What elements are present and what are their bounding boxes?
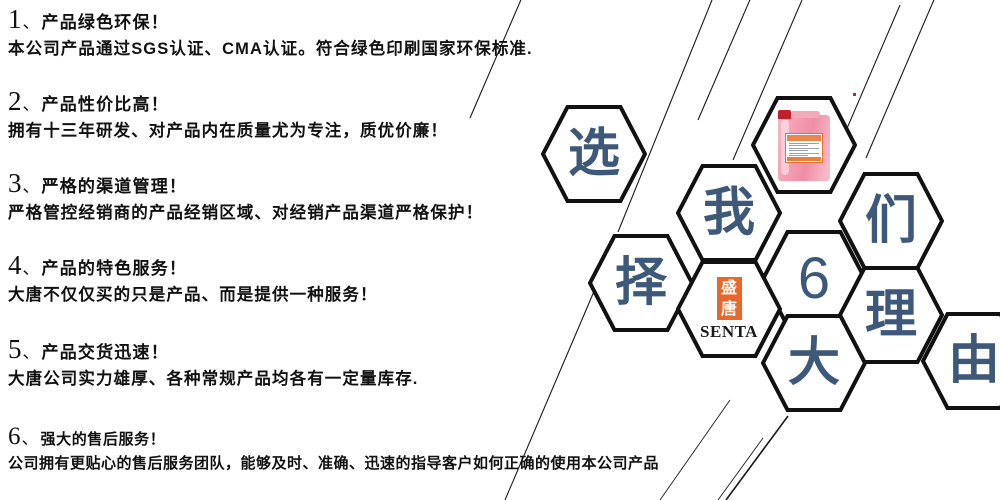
jerrycan-cap: [778, 110, 791, 119]
reason-item-6: 6、强大的售后服务！ 公司拥有更贴心的售后服务团队，能够及时、准确、迅速的指导客…: [8, 424, 708, 473]
reason-body: 大唐公司实力雄厚、各种常规产品均各有一定量库存.: [8, 370, 708, 388]
reason-title: 产品绿色环保！: [42, 13, 169, 32]
reason-body: 拥有十三年研发、对产品内在质量尤为专注，质优价廉！: [8, 122, 708, 140]
reason-heading: 4、产品的特色服务！: [8, 252, 708, 279]
reason-heading: 2、产品性价比高！: [8, 88, 708, 115]
reason-title: 强大的售后服务！: [41, 431, 166, 448]
reason-item-2: 2、产品性价比高！ 拥有十三年研发、对产品内在质量尤为专注，质优价廉！: [8, 88, 708, 140]
reason-number: 4: [8, 250, 22, 280]
reason-heading: 5、产品交货迅速！: [8, 336, 708, 363]
reason-title: 产品性价比高！: [42, 95, 169, 114]
reason-separator: 、: [23, 259, 40, 278]
jerrycan-icon: [776, 109, 832, 181]
reason-heading: 3、严格的渠道管理！: [8, 170, 708, 197]
reason-number: 6: [8, 423, 21, 450]
reason-number: 1: [8, 4, 22, 34]
reason-separator: 、: [23, 13, 40, 32]
reason-number: 2: [8, 86, 22, 116]
reason-item-1: 1、产品绿色环保！ 本公司产品通过SGS认证、CMA认证。符合绿色印刷国家环保标…: [8, 6, 708, 58]
reason-title: 产品的特色服务！: [42, 259, 188, 278]
reason-body: 大唐不仅仅买的只是产品、而是提供一种服务！: [8, 286, 708, 304]
reason-item-5: 5、产品交货迅速！ 大唐公司实力雄厚、各种常规产品均各有一定量库存.: [8, 336, 708, 388]
reason-heading: 1、产品绿色环保！: [8, 6, 708, 33]
reason-number: 3: [8, 168, 22, 198]
reason-separator: 、: [23, 343, 40, 362]
brand-mark-icon: 盛 唐: [717, 277, 742, 320]
reason-item-4: 4、产品的特色服务！ 大唐不仅仅买的只是产品、而是提供一种服务！: [8, 252, 708, 304]
reason-item-3: 3、严格的渠道管理！ 严格管控经销商的产品经销区域、对经销产品渠道严格保护！: [8, 170, 708, 222]
jerrycan-handle: [790, 111, 820, 118]
brand-mark-char-top: 盛: [717, 277, 742, 298]
reason-body: 公司拥有更贴心的售后服务团队，能够及时、准确、迅速的指导客户如何正确的使用本公司…: [8, 456, 708, 473]
reason-title: 产品交货迅速！: [42, 343, 169, 362]
reason-list: 1、产品绿色环保！ 本公司产品通过SGS认证、CMA认证。符合绿色印刷国家环保标…: [8, 0, 708, 500]
reason-separator: 、: [23, 177, 40, 196]
hexagon-label: 由: [921, 311, 1000, 411]
brand-wordmark: SENTA: [700, 322, 758, 342]
brand-mark-char-bottom: 唐: [717, 298, 742, 319]
hexagon-men: 们: [838, 171, 944, 271]
promo-banner: 选 择 我: [0, 0, 1000, 500]
reason-heading: 6、强大的售后服务！: [8, 424, 708, 449]
reason-body: 本公司产品通过SGS认证、CMA认证。符合绿色印刷国家环保标准.: [8, 40, 708, 58]
jerrycan-label: [785, 133, 823, 163]
reason-number: 5: [8, 334, 22, 364]
hexagon-label: 们: [838, 171, 944, 271]
hexagon-you: 由: [921, 311, 1000, 411]
reason-separator: 、: [23, 95, 40, 114]
reason-body: 严格管控经销商的产品经销区域、对经销产品渠道严格保护！: [8, 204, 708, 222]
reason-title: 严格的渠道管理！: [42, 177, 188, 196]
reason-separator: 、: [22, 429, 39, 448]
